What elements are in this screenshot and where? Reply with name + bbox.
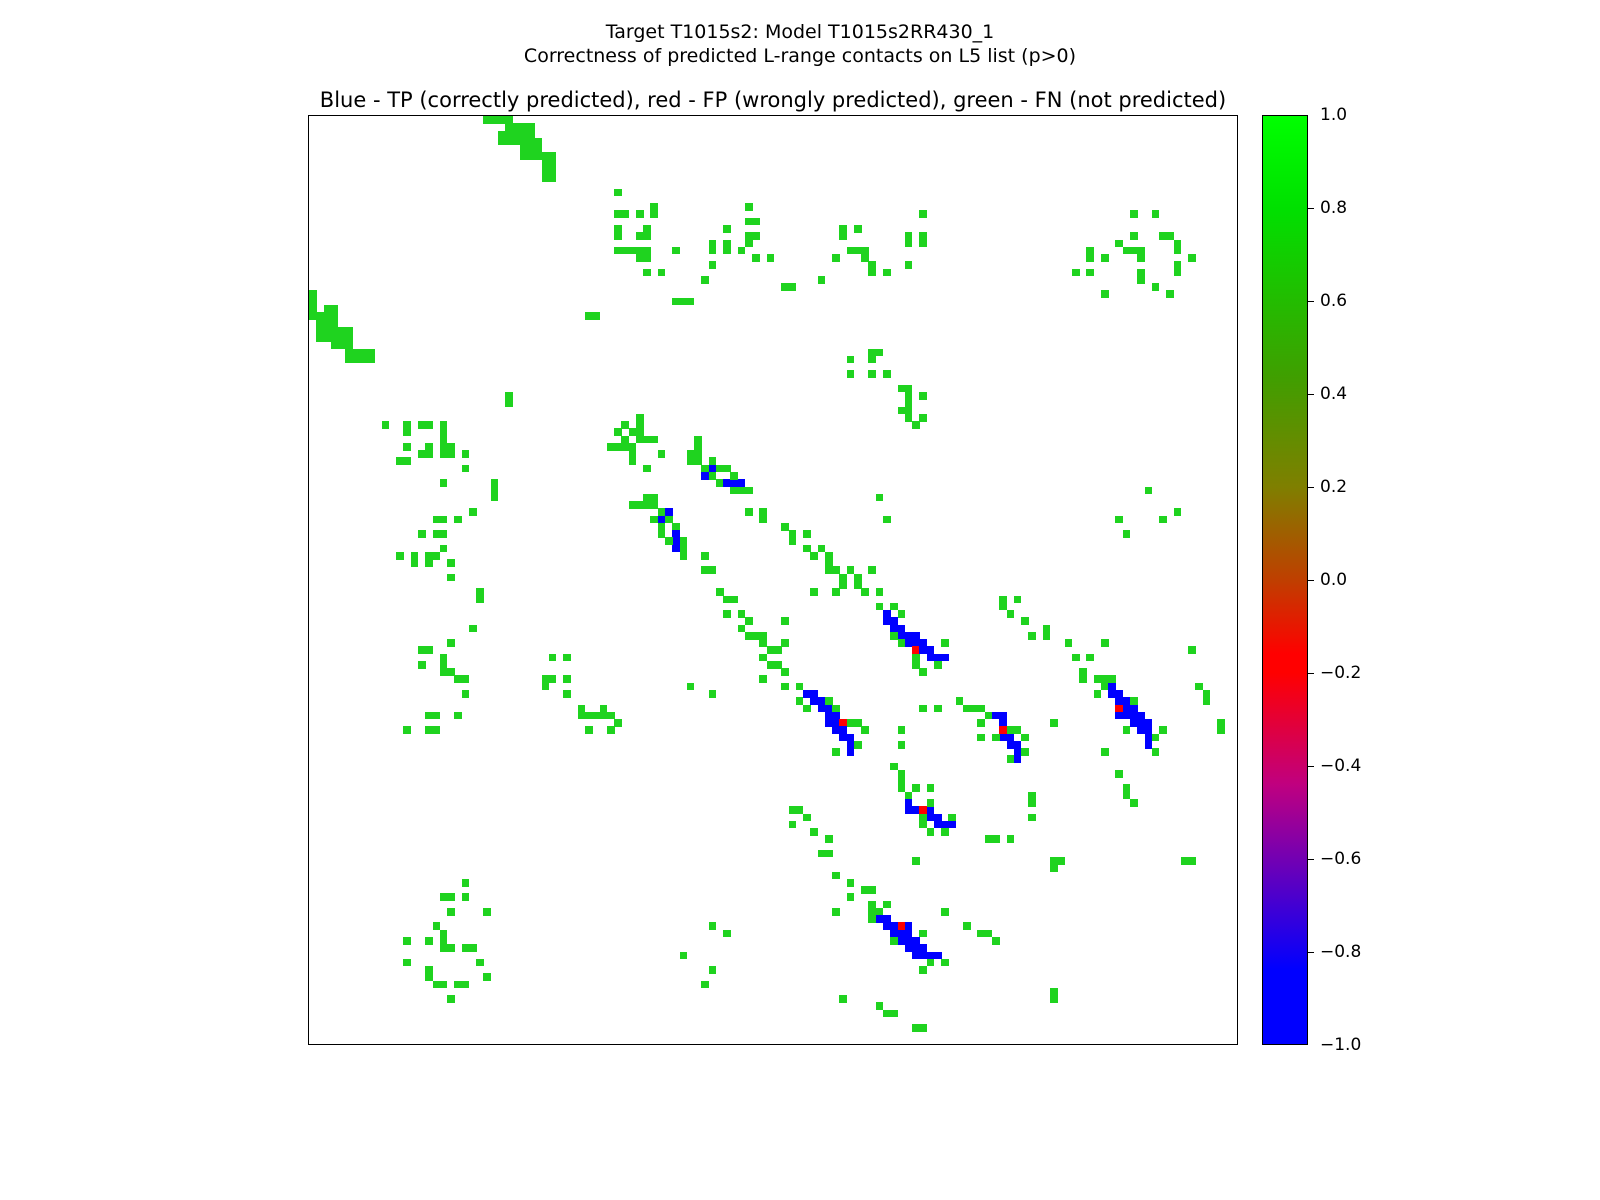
x-axis-tick: [389, 1044, 390, 1045]
y-axis-tick: [308, 457, 309, 458]
y-axis-tick: [308, 617, 309, 618]
y-axis-tick: [308, 908, 309, 909]
x-axis-tick: [810, 1044, 811, 1045]
contact-cell-fn: [353, 356, 375, 364]
x-axis-tick: [992, 1044, 993, 1045]
contact-cell-fn: [701, 552, 709, 560]
contact-cell-fn: [403, 421, 411, 436]
y-axis-tick: [308, 944, 309, 945]
x-axis-tick: [745, 1044, 746, 1045]
contact-cell-fn: [818, 850, 833, 858]
colorbar-tick: [1308, 766, 1314, 767]
x-axis-tick: [1086, 1044, 1087, 1045]
contact-map-cell-layer: [309, 116, 1237, 1044]
contact-cell-fn: [1174, 261, 1182, 276]
contact-cell-fn: [919, 966, 927, 974]
colorbar-tick-label: 0.2: [1320, 477, 1347, 497]
contact-cell-fn: [701, 276, 709, 284]
contact-cell-fn: [868, 566, 876, 574]
contact-cell-fn: [745, 203, 753, 211]
x-axis-tick: [818, 1044, 819, 1045]
contact-cell-fn: [680, 537, 688, 552]
y-axis-tick: [308, 378, 309, 379]
contact-cell-fn: [643, 494, 658, 509]
y-axis-tick: [308, 937, 309, 938]
contact-cell-fn: [781, 639, 789, 647]
y-axis-tick: [308, 276, 309, 277]
contact-cell-fn: [425, 443, 433, 458]
contact-cell-fn: [810, 828, 818, 836]
contact-cell-fn: [767, 661, 782, 669]
colorbar-tick-label: 0.4: [1320, 384, 1347, 404]
contact-cell-fn: [963, 922, 971, 930]
colorbar-tick: [1308, 859, 1314, 860]
x-axis-tick: [839, 1044, 840, 1045]
y-axis-tick: [308, 748, 309, 749]
x-axis-tick: [738, 1044, 739, 1045]
y-axis-tick: [308, 123, 309, 124]
y-axis-tick: [308, 421, 309, 422]
contact-cell-fn: [709, 261, 717, 269]
contact-cell-fn: [403, 937, 411, 945]
y-axis-tick: [308, 552, 309, 553]
y-axis-tick: [308, 290, 309, 291]
contact-cell-fn: [1152, 748, 1160, 756]
contact-cell-fn: [1050, 719, 1058, 727]
contact-cell-fn: [1072, 269, 1080, 277]
x-axis-tick: [491, 1044, 492, 1045]
colorbar-tick: [1308, 208, 1314, 209]
contact-cell-fn: [919, 414, 927, 422]
contact-cell-fn: [418, 646, 433, 654]
y-axis-tick: [308, 1031, 309, 1032]
x-axis-tick: [1007, 1044, 1008, 1045]
x-axis-tick: [1021, 1044, 1022, 1045]
contact-cell-fn: [919, 668, 927, 676]
x-axis-tick: [440, 1044, 441, 1045]
contact-cell-fn: [447, 450, 455, 458]
contact-cell-fn: [396, 552, 404, 560]
figure-suptitle-line1: Target T1015s2: Model T1015s2RR430_1: [0, 20, 1600, 44]
contact-cell-fn: [440, 654, 448, 669]
x-axis-tick: [309, 1044, 310, 1045]
contact-cell-fn: [883, 370, 891, 378]
y-axis-tick: [308, 196, 309, 197]
contact-cell-fn: [563, 690, 571, 698]
contact-cell-fn: [614, 719, 622, 727]
x-axis-tick: [796, 1044, 797, 1045]
contact-cell-fn: [912, 1024, 927, 1032]
contact-cell-fn: [440, 421, 448, 436]
y-axis-tick: [308, 203, 309, 204]
x-axis-tick: [854, 1044, 855, 1045]
contact-cell-fn: [810, 588, 818, 596]
x-axis-tick: [956, 1044, 957, 1045]
y-axis-tick: [308, 566, 309, 567]
contact-cell-fn: [636, 210, 644, 218]
contact-cell-fn: [919, 210, 927, 218]
y-axis-tick: [308, 581, 309, 582]
y-axis-tick: [308, 850, 309, 851]
x-axis-tick: [658, 1044, 659, 1045]
contact-cell-fn: [818, 276, 826, 284]
contact-cell-fn: [1014, 596, 1022, 604]
colorbar-tick: [1308, 952, 1314, 953]
y-axis-tick: [308, 254, 309, 255]
y-axis-tick: [308, 269, 309, 270]
contact-cell-fn: [1028, 792, 1036, 807]
x-axis-tick: [1043, 1044, 1044, 1045]
contact-cell-fn: [723, 930, 731, 938]
contact-cell-fn: [1079, 668, 1087, 683]
x-axis-tick: [680, 1044, 681, 1045]
contact-cell-fn: [832, 872, 840, 880]
contact-cell-fn: [629, 457, 637, 465]
x-axis-tick: [353, 1044, 354, 1045]
x-axis-tick: [963, 1044, 964, 1045]
contact-cell-fn: [1188, 254, 1196, 262]
y-axis-tick: [308, 639, 309, 640]
y-axis-tick: [308, 145, 309, 146]
x-axis-tick: [1210, 1044, 1211, 1045]
contact-cell-fn: [1086, 269, 1094, 277]
y-axis-tick: [308, 661, 309, 662]
y-axis-tick: [308, 777, 309, 778]
contact-cell-fn: [789, 806, 804, 814]
x-axis-tick: [1137, 1044, 1138, 1045]
contact-cell-fn: [905, 261, 913, 269]
y-axis-tick: [308, 625, 309, 626]
contact-cell-fn: [403, 959, 411, 967]
contact-cell-fn: [483, 116, 505, 124]
x-axis-tick: [527, 1044, 528, 1045]
x-axis-tick: [883, 1044, 884, 1045]
x-axis-tick: [621, 1044, 622, 1045]
y-axis-tick: [308, 530, 309, 531]
y-axis-tick: [308, 261, 309, 262]
contact-cell-fn: [454, 516, 462, 524]
y-axis-tick: [308, 436, 309, 437]
x-axis-tick: [629, 1044, 630, 1045]
contact-cell-fn: [825, 566, 840, 574]
x-axis-tick: [1152, 1044, 1153, 1045]
y-axis-tick: [308, 675, 309, 676]
contact-cell-fn: [745, 632, 760, 640]
y-axis-tick: [308, 319, 309, 320]
y-axis-tick: [308, 327, 309, 328]
contact-cell-fn: [476, 588, 484, 603]
x-axis-tick: [650, 1044, 651, 1045]
y-axis-tick: [308, 414, 309, 415]
y-axis-tick: [308, 784, 309, 785]
contact-cell-fn: [825, 552, 833, 567]
contact-cell-fn: [723, 610, 731, 618]
contact-cell-fn: [767, 254, 775, 262]
x-axis-tick: [1232, 1044, 1233, 1045]
contact-cell-fn: [781, 283, 796, 291]
contact-cell-fn: [912, 654, 920, 669]
contact-cell-fn: [1159, 516, 1167, 524]
x-axis-tick: [1203, 1044, 1204, 1045]
x-axis-tick: [723, 1044, 724, 1045]
y-axis-tick: [308, 356, 309, 357]
contact-cell-fn: [512, 123, 527, 145]
x-axis-tick: [498, 1044, 499, 1045]
x-axis-tick: [970, 1044, 971, 1045]
y-axis-tick: [308, 1024, 309, 1025]
contact-cell-fn: [549, 160, 557, 182]
contact-cell-fn: [614, 189, 622, 197]
x-axis-tick: [462, 1044, 463, 1045]
contact-cell-fn: [643, 269, 651, 277]
x-axis-tick: [1065, 1044, 1066, 1045]
x-axis-tick: [1195, 1044, 1196, 1045]
x-axis-tick: [433, 1044, 434, 1045]
x-axis-tick: [716, 1044, 717, 1045]
contact-cell-fn: [658, 523, 666, 538]
x-axis-tick: [665, 1044, 666, 1045]
y-axis-tick: [308, 995, 309, 996]
contact-cell-fn: [912, 784, 920, 792]
y-axis-tick: [308, 726, 309, 727]
x-axis-tick: [1159, 1044, 1160, 1045]
contact-cell-fn: [832, 748, 840, 756]
contact-cell-fn: [425, 559, 433, 567]
y-axis-tick: [308, 174, 309, 175]
y-axis-tick: [308, 930, 309, 931]
x-axis-tick: [512, 1044, 513, 1045]
contact-cell-fn: [469, 625, 477, 633]
contact-cell-fn: [723, 225, 731, 233]
y-axis-tick: [308, 472, 309, 473]
y-axis-tick: [308, 545, 309, 546]
y-axis-tick: [308, 349, 309, 350]
y-axis-tick: [308, 712, 309, 713]
contact-cell-fn: [854, 574, 862, 589]
contact-cell-fn: [1130, 210, 1138, 218]
contact-cell-fn: [832, 588, 840, 596]
y-axis-tick: [308, 479, 309, 480]
x-axis-tick: [774, 1044, 775, 1045]
contact-cell-fn: [1217, 719, 1225, 734]
y-axis-tick: [308, 559, 309, 560]
y-axis-tick: [308, 654, 309, 655]
contact-cell-fn: [440, 944, 455, 952]
contact-cell-fn: [614, 210, 629, 218]
y-axis-tick: [308, 334, 309, 335]
y-axis-tick: [308, 632, 309, 633]
contact-cell-fn: [781, 668, 789, 676]
contact-cell-fn: [433, 516, 448, 524]
y-axis-tick: [308, 596, 309, 597]
contact-cell-fn: [650, 203, 658, 218]
y-axis-tick: [308, 799, 309, 800]
contact-cell-fn: [447, 574, 455, 582]
contact-cell-fn: [1123, 247, 1138, 255]
contact-cell-fn: [636, 232, 651, 240]
contact-cell-fn: [447, 908, 455, 916]
x-axis-tick: [687, 1044, 688, 1045]
contact-cell-fn: [462, 879, 470, 887]
contact-cell-fn: [1159, 232, 1174, 240]
y-axis-tick: [308, 385, 309, 386]
x-axis-tick: [374, 1044, 375, 1045]
x-axis-tick: [876, 1044, 877, 1045]
contact-cell-fn: [498, 131, 513, 146]
x-axis-tick: [411, 1044, 412, 1045]
contact-cell-fn: [701, 981, 709, 989]
contact-cell-fn: [847, 893, 855, 901]
contact-cell-fn: [1028, 814, 1036, 822]
x-axis-tick: [563, 1044, 564, 1045]
y-axis-tick: [308, 283, 309, 284]
y-axis-tick: [308, 792, 309, 793]
contact-cell-fn: [905, 232, 913, 247]
x-axis-tick: [803, 1044, 804, 1045]
contact-cell-fn: [999, 596, 1007, 611]
colorbar-tick-label: −0.2: [1320, 663, 1361, 683]
contact-cell-fn: [629, 501, 644, 509]
x-axis-tick: [1036, 1044, 1037, 1045]
contact-cell-fn: [912, 857, 920, 865]
y-axis-tick: [308, 160, 309, 161]
y-axis-tick: [308, 305, 309, 306]
contact-cell-fn: [868, 915, 876, 923]
x-axis-tick: [534, 1044, 535, 1045]
x-axis-tick: [832, 1044, 833, 1045]
x-axis-tick: [425, 1044, 426, 1045]
contact-cell-fn: [1101, 254, 1109, 262]
colorbar-tick: [1308, 301, 1314, 302]
contact-map-plot[interactable]: 1471013161922252831343740434649525558616…: [308, 115, 1238, 1045]
contact-cell-fn: [745, 487, 753, 495]
x-axis-tick: [701, 1044, 702, 1045]
contact-cell-fn: [396, 457, 411, 465]
x-axis-tick: [934, 1044, 935, 1045]
contact-cell-fn: [585, 712, 600, 720]
contact-cell-fn: [672, 298, 694, 306]
y-axis-tick: [308, 1010, 309, 1011]
x-axis-tick: [1166, 1044, 1167, 1045]
x-axis-tick: [1079, 1044, 1080, 1045]
y-axis-tick: [308, 152, 309, 153]
x-axis-tick: [1224, 1044, 1225, 1045]
contact-cell-fn: [927, 799, 935, 807]
x-axis-tick: [752, 1044, 753, 1045]
y-axis-tick: [308, 588, 309, 589]
contact-cell-fn: [810, 552, 818, 560]
contact-cell-fn: [1188, 646, 1196, 654]
contact-cell-fn: [1181, 857, 1196, 865]
contact-cell-fn: [309, 290, 317, 312]
contact-cell-fn: [585, 726, 593, 734]
x-axis-tick: [636, 1044, 637, 1045]
contact-cell-fn: [985, 835, 1000, 843]
contact-cell-fn: [1108, 675, 1116, 683]
contact-cell-fn: [440, 479, 448, 487]
contact-cell-fn: [549, 654, 557, 662]
y-axis-tick: [308, 116, 309, 117]
y-axis-tick: [308, 843, 309, 844]
contact-cell-fn: [440, 893, 448, 901]
contact-cell-fn: [701, 566, 716, 574]
x-axis-tick: [396, 1044, 397, 1045]
y-axis-tick: [308, 959, 309, 960]
contact-cell-fn: [643, 254, 651, 262]
contact-cell-fn: [629, 443, 637, 458]
contact-cell-tp: [934, 654, 949, 662]
contact-cell-fn: [803, 705, 811, 713]
contact-cell-fn: [1050, 988, 1058, 1003]
contact-cell-fn: [745, 617, 753, 625]
contact-cell-fn: [745, 508, 753, 516]
x-axis-tick: [447, 1044, 448, 1045]
contact-cell-fn: [411, 552, 419, 567]
contact-cell-fn: [977, 734, 985, 742]
x-axis-tick: [977, 1044, 978, 1045]
contact-cell-fn: [723, 596, 738, 604]
contact-cell-fn: [992, 937, 1000, 945]
contact-cell-fn: [781, 683, 789, 691]
contact-cell-fn: [1115, 770, 1123, 778]
contact-cell-fn: [868, 261, 876, 276]
x-axis-tick: [556, 1044, 557, 1045]
colorbar-tick-label: −0.8: [1320, 942, 1361, 962]
x-axis-tick: [1115, 1044, 1116, 1045]
x-axis-tick: [403, 1044, 404, 1045]
x-axis-tick: [825, 1044, 826, 1045]
contact-cell-fn: [876, 349, 884, 357]
contact-cell-tp: [847, 741, 855, 756]
colorbar-tick: [1308, 673, 1314, 674]
contact-cell-fn: [803, 814, 811, 822]
contact-cell-fn: [462, 450, 470, 458]
y-axis-tick: [308, 370, 309, 371]
x-axis-tick: [542, 1044, 543, 1045]
y-axis-tick: [308, 399, 309, 400]
y-axis-tick: [308, 973, 309, 974]
x-axis-tick: [571, 1044, 572, 1045]
x-axis-tick: [694, 1044, 695, 1045]
x-axis-tick: [1101, 1044, 1102, 1045]
contact-cell-fn: [927, 784, 935, 792]
contact-cell-fn: [883, 516, 891, 524]
plot-legend-title: Blue - TP (correctly predicted), red - F…: [308, 88, 1238, 112]
x-axis-tick: [1188, 1044, 1189, 1045]
contact-cell-fn: [1130, 232, 1138, 240]
x-axis-tick: [592, 1044, 593, 1045]
contact-cell-fn: [934, 705, 942, 713]
colorbar-tick-label: 0.0: [1320, 570, 1347, 590]
contact-cell-fn: [1123, 726, 1131, 734]
contact-cell-fn: [607, 443, 629, 451]
contact-cell-fn: [832, 254, 840, 262]
contact-cell-fn: [1123, 530, 1131, 538]
x-axis-tick: [759, 1044, 760, 1045]
contact-cell-fn: [883, 1010, 898, 1018]
contact-cell-fn: [1152, 734, 1160, 742]
contact-cell-fn: [1145, 487, 1153, 495]
contact-cell-fn: [832, 908, 840, 916]
x-axis-tick: [767, 1044, 768, 1045]
x-axis-tick: [847, 1044, 848, 1045]
y-axis-tick: [308, 806, 309, 807]
colorbar-tick-label: 0.8: [1320, 198, 1347, 218]
x-axis-tick: [861, 1044, 862, 1045]
contact-cell-fn: [1137, 269, 1145, 284]
y-axis-tick: [308, 298, 309, 299]
contact-cell-fn: [781, 617, 789, 625]
